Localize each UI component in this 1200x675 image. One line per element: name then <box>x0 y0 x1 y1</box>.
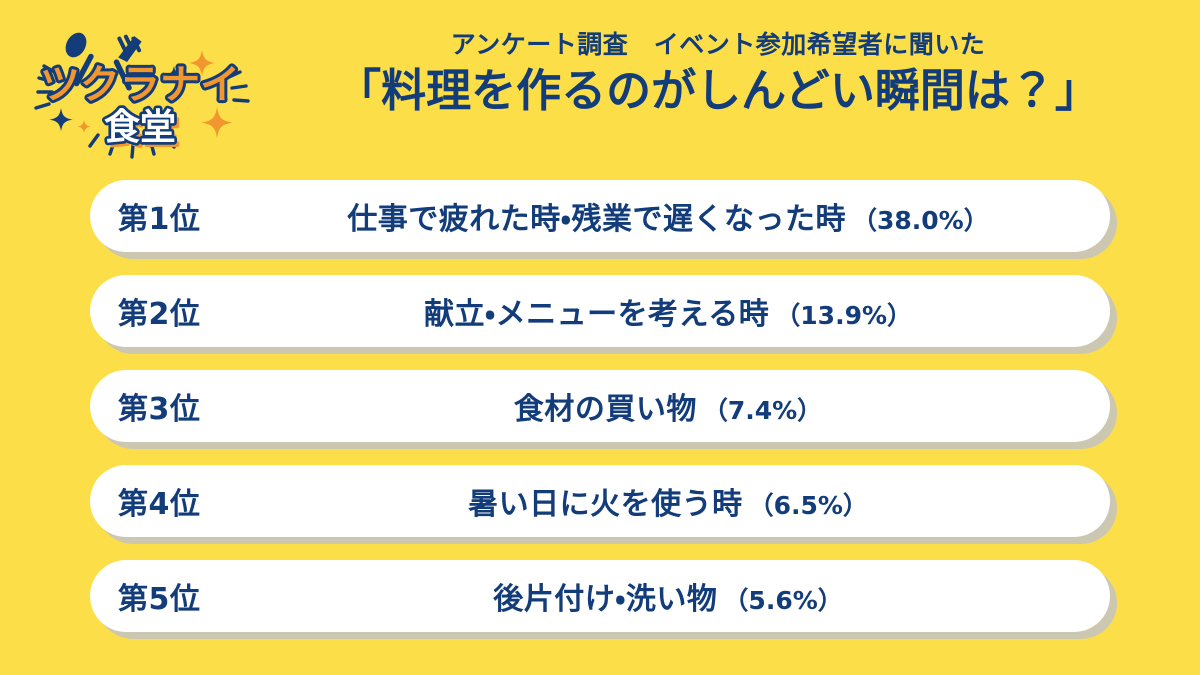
rank-text: 後片付け・洗い物 <box>493 574 717 618</box>
rank-card-1: 第1位 仕事で疲れた時・残業で遅くなった時 （38.0%） <box>90 180 1110 252</box>
list-item: 第5位 後片付け・洗い物 （5.6%） <box>90 560 1110 632</box>
logo-text-line2: 食堂 <box>104 107 176 148</box>
ranking-list: 第1位 仕事で疲れた時・残業で遅くなった時 （38.0%） 第2位 献立・メニュ… <box>0 180 1200 632</box>
rank-text: 暑い日に火を使う時 <box>468 479 743 523</box>
rank-body: 後片付け・洗い物 （5.6%） <box>260 574 1082 618</box>
list-item: 第1位 仕事で疲れた時・残業で遅くなった時 （38.0%） <box>90 180 1110 252</box>
rank-card-2: 第2位 献立・メニューを考える時 （13.9%） <box>90 275 1110 347</box>
rank-card-4: 第4位 暑い日に火を使う時 （6.5%） <box>90 465 1110 537</box>
rank-text: 献立・メニューを考える時 <box>424 289 769 333</box>
list-item: 第2位 献立・メニューを考える時 （13.9%） <box>90 275 1110 347</box>
rank-label: 第3位 <box>90 384 260 428</box>
rank-body: 献立・メニューを考える時 （13.9%） <box>260 289 1082 333</box>
rank-label: 第1位 <box>90 194 260 238</box>
rank-percent: （5.6%） <box>723 581 842 617</box>
sparkle-icon-navy-2 <box>49 108 72 131</box>
rank-text: 食材の買い物 <box>514 384 697 428</box>
rank-card-3: 第3位 食材の買い物 （7.4%） <box>90 370 1110 442</box>
brand-logo: ツクラナイ 食堂 食堂 <box>14 14 266 166</box>
page-title: 「料理を作るのがしんどい瞬間は？」 <box>268 64 1168 117</box>
header-subtitle: アンケート調査 イベント参加希望者に聞いた <box>268 30 1168 60</box>
rank-body: 暑い日に火を使う時 （6.5%） <box>260 479 1082 523</box>
rank-body: 食材の買い物 （7.4%） <box>260 384 1082 428</box>
header: アンケート調査 イベント参加希望者に聞いた 「料理を作るのがしんどい瞬間は？」 <box>268 30 1168 117</box>
sparkle-icon-orange-3 <box>77 120 90 133</box>
slide-canvas: ツクラナイ 食堂 食堂 アンケート調査 イベント参加希望者に聞いた 「料理を作る… <box>0 0 1200 675</box>
rank-body: 仕事で疲れた時・残業で遅くなった時 （38.0%） <box>260 194 1082 238</box>
sparkle-icon-orange-2 <box>201 107 232 138</box>
logo-text-line1: ツクラナイ <box>40 62 240 108</box>
rank-label: 第4位 <box>90 479 260 523</box>
rank-percent: （6.5%） <box>749 486 868 522</box>
rank-label: 第5位 <box>90 574 260 618</box>
list-item: 第4位 暑い日に火を使う時 （6.5%） <box>90 465 1110 537</box>
rank-percent: （13.9%） <box>775 296 912 332</box>
rank-label: 第2位 <box>90 289 260 333</box>
brand-logo-graphic: ツクラナイ 食堂 食堂 <box>14 14 266 166</box>
rank-text: 仕事で疲れた時・残業で遅くなった時 <box>347 194 846 238</box>
rank-card-5: 第5位 後片付け・洗い物 （5.6%） <box>90 560 1110 632</box>
rank-percent: （7.4%） <box>703 391 822 427</box>
list-item: 第3位 食材の買い物 （7.4%） <box>90 370 1110 442</box>
rank-percent: （38.0%） <box>852 201 989 237</box>
